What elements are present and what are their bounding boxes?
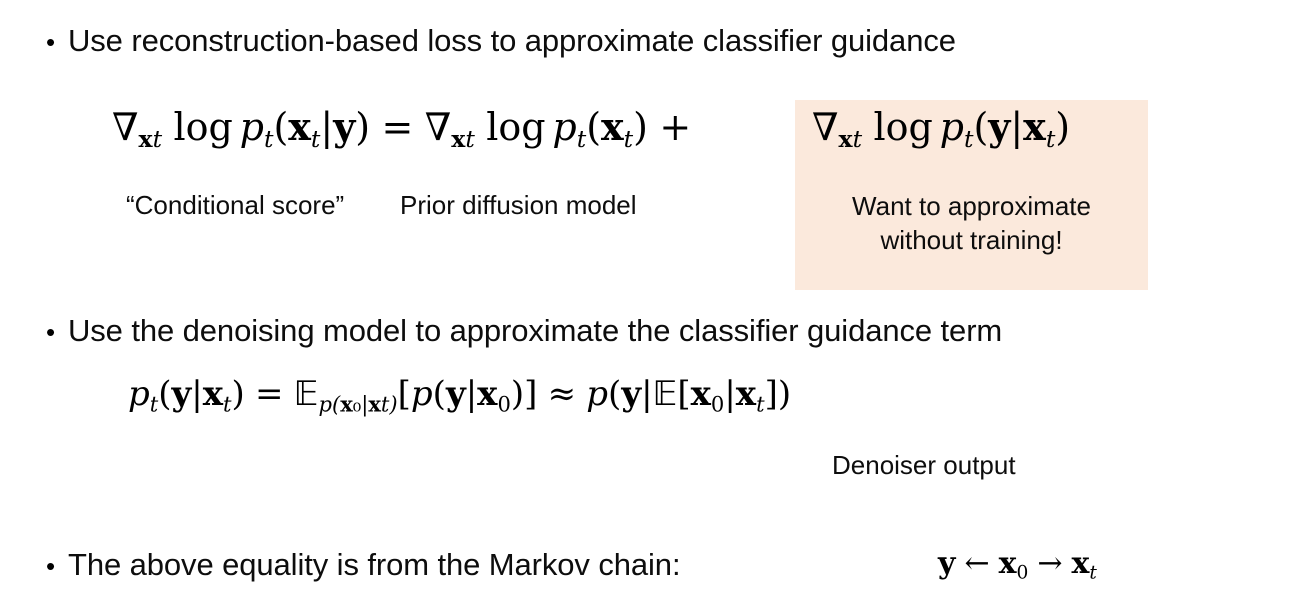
annotation-denoiser-output: Denoiser output — [832, 450, 1016, 481]
annotation-conditional-score: “Conditional score” — [126, 190, 344, 221]
slide-canvas: • Use reconstruction-based loss to appro… — [0, 0, 1300, 616]
bullet-item-2: • Use the denoising model to approximate… — [46, 314, 1002, 349]
highlight-caption-line-1: Want to approximate — [795, 190, 1148, 224]
bullet-marker-icon: • — [46, 29, 68, 55]
highlight-caption: Want to approximate without training! — [795, 190, 1148, 258]
bullet-marker-icon: • — [46, 553, 68, 579]
bullet-text-1: Use reconstruction-based loss to approxi… — [68, 24, 956, 59]
equation-3-markov-chain: y←x0→xt — [938, 546, 1097, 585]
bullet-item-3: • The above equality is from the Markov … — [46, 548, 680, 583]
equation-2: pt(y|xt)=𝔼p(x₀|xt)[p(y|x0)]≈p(y|𝔼[x0|xt]… — [128, 374, 791, 417]
bullet-item-1: • Use reconstruction-based loss to appro… — [46, 24, 956, 59]
bullet-text-3: The above equality is from the Markov ch… — [68, 548, 680, 583]
highlight-caption-line-2: without training! — [795, 224, 1148, 258]
equation-1-guidance-term: ∇xtlogpt(y|xt) — [812, 104, 1070, 153]
equation-1-left: ∇xtlogpt(xt|y)=∇xtlogpt(xt)+ — [112, 104, 691, 153]
bullet-marker-icon: • — [46, 319, 68, 345]
bullet-text-2: Use the denoising model to approximate t… — [68, 314, 1002, 349]
annotation-prior-diffusion-model: Prior diffusion model — [400, 190, 637, 221]
